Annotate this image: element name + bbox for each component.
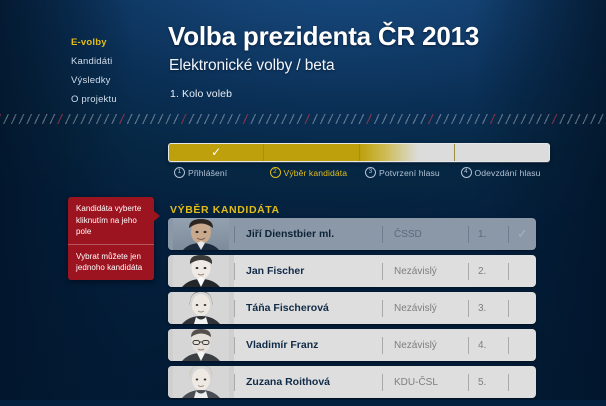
step-number: 3 [365,167,376,178]
bottom-mask [0,400,606,406]
stepper-segment-3[interactable] [360,144,455,161]
candidate-photo [168,218,234,250]
candidate-photo [168,255,234,287]
candidate-name: Jiří Dienstbier ml. [235,228,382,240]
help-tooltip: Kandidáta vyberte kliknutím na jeho pole… [68,197,154,280]
candidate-name: Jan Fischer [235,265,382,277]
select-check-icon[interactable]: ✓ [509,226,536,242]
candidate-name: Zuzana Roithová [235,376,382,388]
page-title: Volba prezidenta ČR 2013 [168,21,479,52]
candidate-list: Jiří Dienstbier ml. ČSSD 1. ✓ [168,218,536,403]
nav-item-label: E-volby [71,37,107,48]
portrait-icon [173,329,229,361]
candidate-party: ČSSD [383,229,468,240]
main-nav: E-volby Kandidáti Výsledky O projektu [71,33,161,109]
nav-item-kandidati[interactable]: Kandidáti [71,52,161,71]
row-divider [508,263,509,280]
stepper-bar: ✓ [168,143,550,162]
row-divider [508,300,509,317]
candidate-order: 3. [469,303,508,314]
table-row[interactable]: Táňa Fischerová Nezávislý 3. [168,292,536,324]
tooltip-arrow [154,211,160,221]
candidate-photo [168,292,234,324]
portrait-icon [173,366,229,398]
step-text: Odevzdání hlasu [475,168,541,178]
candidate-order: 4. [469,340,508,351]
divider-slashes-red [0,114,606,124]
step-number: 2 [270,167,281,178]
decorative-divider [0,114,606,124]
nav-item-e-volby[interactable]: E-volby [71,33,161,52]
candidate-order: 5. [469,377,508,388]
candidate-party: KDU-ČSL [383,377,468,388]
step-text: Přihlášení [188,168,227,178]
portrait-icon [173,255,229,287]
candidate-name: Táňa Fischerová [235,302,382,314]
round-label: 1. Kolo voleb [170,88,232,100]
stepper-label-2[interactable]: 2 Výběr kandidáta [264,167,360,178]
page-subtitle: Elektronické volby / beta [169,57,335,75]
row-divider [508,374,509,391]
stepper-segment-1[interactable]: ✓ [169,144,264,161]
stepper-label-3[interactable]: 3 Potvrzení hlasu [359,167,455,178]
app-root: E-volby Kandidáti Výsledky O projektu Vo… [0,0,606,406]
tooltip-line-2: Vybrat můžete jen jednoho kandidáta [68,244,154,280]
tooltip-line-1: Kandidáta vyberte kliknutím na jeho pole [68,197,154,244]
candidate-party: Nezávislý [383,266,468,277]
candidate-party: Nezávislý [383,340,468,351]
stepper-segment-2[interactable] [264,144,359,161]
nav-item-label: O projektu [71,94,117,105]
stepper-labels: 1 Přihlášení 2 Výběr kandidáta 3 Potvrze… [168,167,550,178]
portrait-icon [173,292,229,324]
table-row[interactable]: Vladimír Franz Nezávislý 4. [168,329,536,361]
table-row[interactable]: Jiří Dienstbier ml. ČSSD 1. ✓ [168,218,536,250]
stepper-segment-4[interactable] [455,144,549,161]
step-text: Výběr kandidáta [284,168,348,178]
nav-item-vysledky[interactable]: Výsledky [71,71,161,90]
check-icon: ✓ [211,146,221,158]
candidate-photo [168,329,234,361]
nav-item-o-projektu[interactable]: O projektu [71,90,161,109]
row-divider [508,337,509,354]
candidate-party: Nezávislý [383,303,468,314]
candidate-order: 2. [469,266,508,277]
stepper-label-4[interactable]: 4 Odevzdání hlasu [455,167,551,178]
step-number: 1 [174,167,185,178]
table-row[interactable]: Zuzana Roithová KDU-ČSL 5. [168,366,536,398]
table-row[interactable]: Jan Fischer Nezávislý 2. [168,255,536,287]
stepper-label-1[interactable]: 1 Přihlášení [168,167,264,178]
nav-item-label: Výsledky [71,75,111,86]
progress-stepper: ✓ 1 Přihlášení 2 Výběr kandidáta 3 Potvr… [168,143,550,178]
section-title: VÝBĚR KANDIDÁTA [170,204,280,216]
portrait-icon [173,218,229,250]
step-number: 4 [461,167,472,178]
candidate-order: 1. [469,229,508,240]
candidate-name: Vladimír Franz [235,339,382,351]
step-text: Potvrzení hlasu [379,168,440,178]
nav-item-label: Kandidáti [71,56,112,67]
candidate-photo [168,366,234,398]
